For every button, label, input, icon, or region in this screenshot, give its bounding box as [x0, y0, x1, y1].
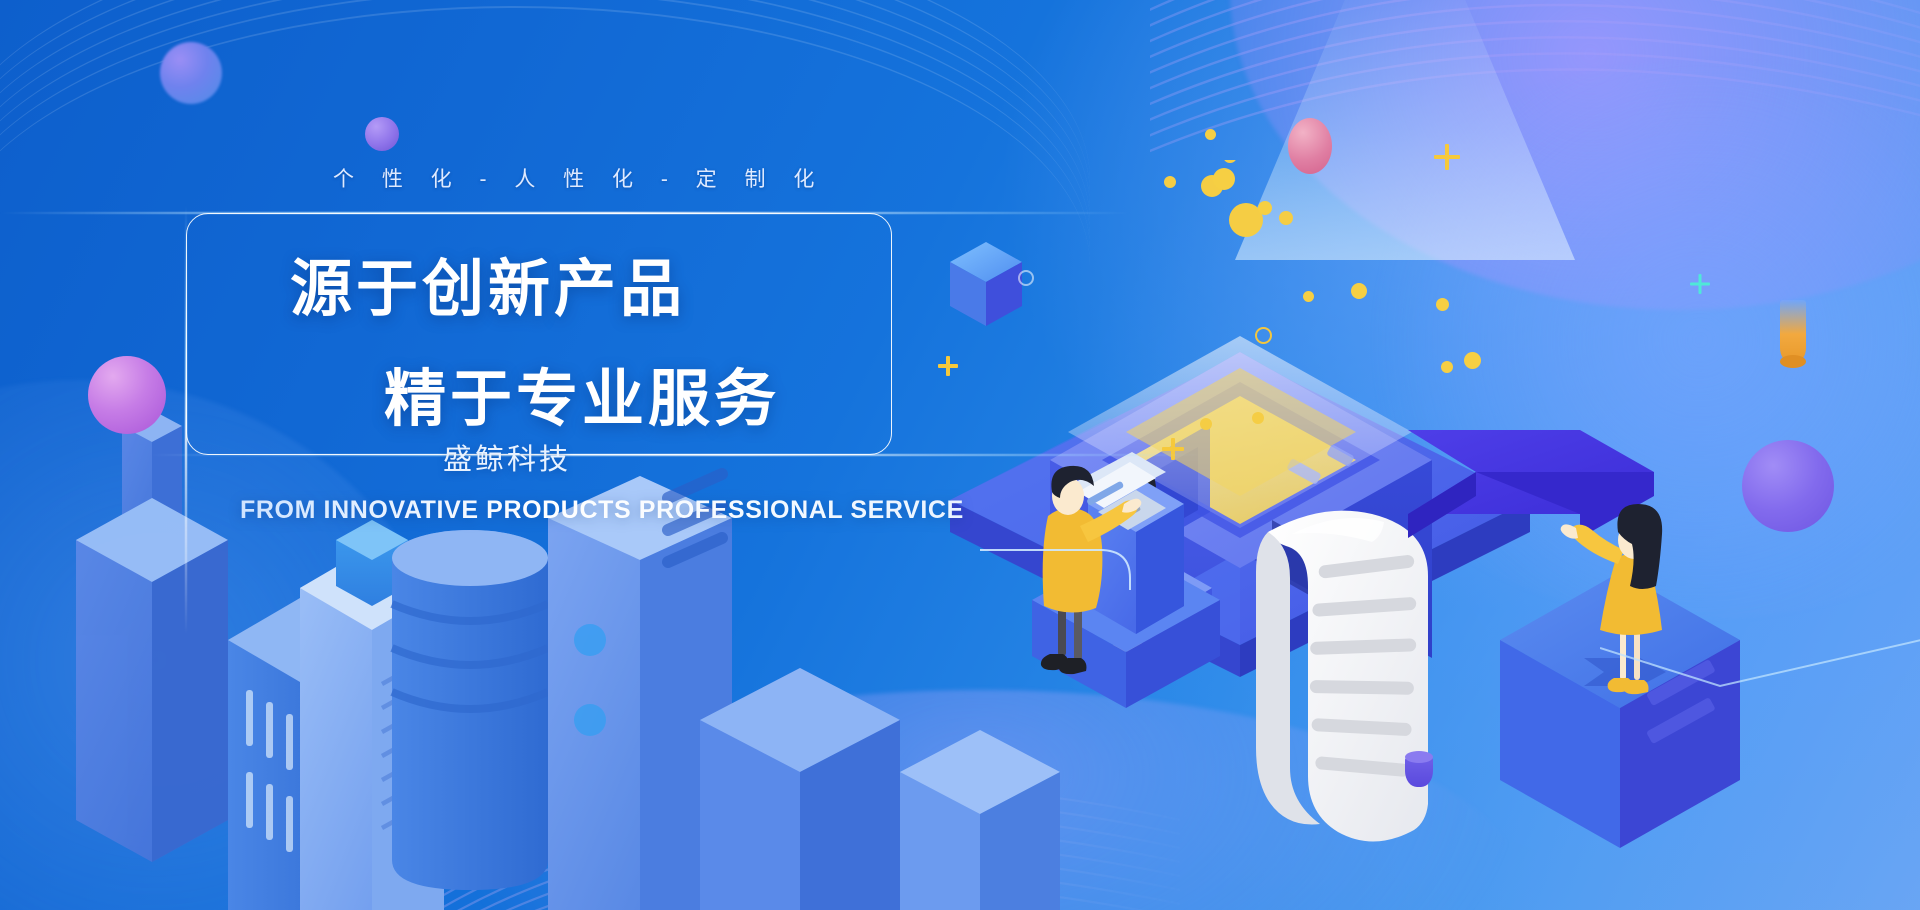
- blue-glow-bottom-left: [0, 380, 460, 910]
- white-ring-outline: [1018, 270, 1034, 286]
- sphere-blue-purple-top-left: [160, 42, 222, 104]
- yellow-dot: [1351, 283, 1367, 299]
- yellow-dot: [1436, 298, 1449, 311]
- yellow-dot: [1303, 291, 1314, 302]
- headline-line-2: 精于专业服务: [384, 348, 780, 438]
- connector-line-right: [1600, 590, 1920, 720]
- tagline-text: 个 性 化 - 人 性 化 - 定 制 化: [333, 163, 825, 193]
- yellow-ring-outline: [1255, 327, 1272, 344]
- yellow-dot: [1464, 352, 1481, 369]
- sphere-magenta-left: [88, 356, 166, 434]
- company-name: 盛鲸科技: [443, 436, 571, 478]
- yellow-dot: [1213, 168, 1235, 190]
- headline-line-1: 源于创新产品: [290, 238, 686, 328]
- purple-cylinder-decoration: [1405, 757, 1433, 787]
- sphere-purple-small: [365, 117, 399, 151]
- yellow-dot: [1441, 361, 1453, 373]
- yellow-dot: [1205, 129, 1216, 140]
- orange-cylinder-decoration: [1780, 300, 1806, 362]
- english-subtitle: FROM INNOVATIVE PRODUCTS PROFESSIONAL SE…: [240, 496, 964, 525]
- connector-line: [980, 520, 1280, 600]
- printed-paper-scroll: [1256, 511, 1428, 842]
- sphere-purple-right: [1742, 440, 1834, 532]
- yellow-dot: [1258, 201, 1272, 215]
- sphere-pink-right: [1288, 118, 1332, 174]
- hero-banner: 个 性 化 - 人 性 化 - 定 制 化 源于创新产品 精于专业服务 盛鲸科技…: [0, 0, 1920, 910]
- floating-cube: [950, 242, 1022, 326]
